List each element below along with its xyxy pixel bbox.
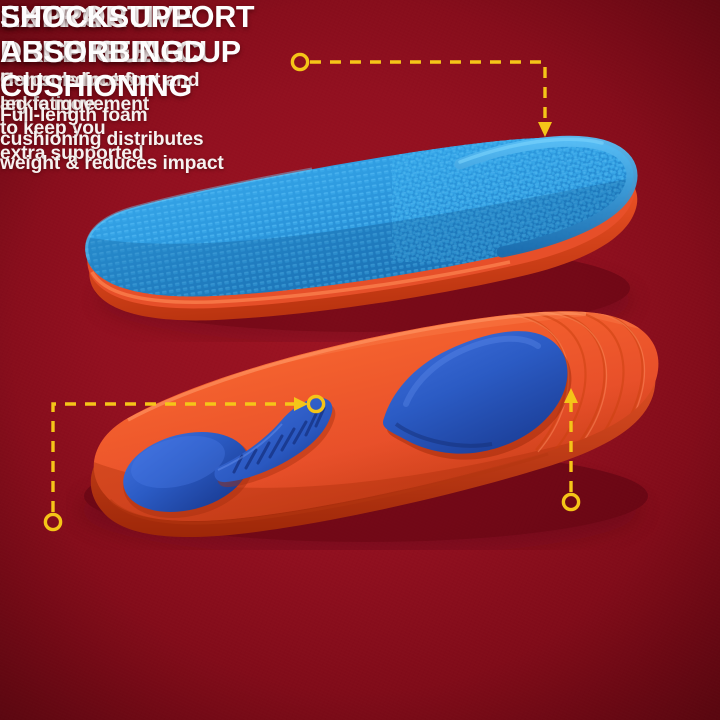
infographic-canvas: SUPPORTIVE DEEP HEEL CUP Controls foot &… [0, 0, 720, 720]
feature-headline-shock-absorbing: SHOCK- ABSORBING CUSHIONING [0, 0, 224, 104]
feature-body-shock-absorbing: Full-length foam cushioning distributes … [0, 104, 224, 177]
feature-block-shock-absorbing: SHOCK- ABSORBING CUSHIONING Full-length … [0, 0, 224, 176]
product-image-insole-bottom [66, 300, 686, 550]
